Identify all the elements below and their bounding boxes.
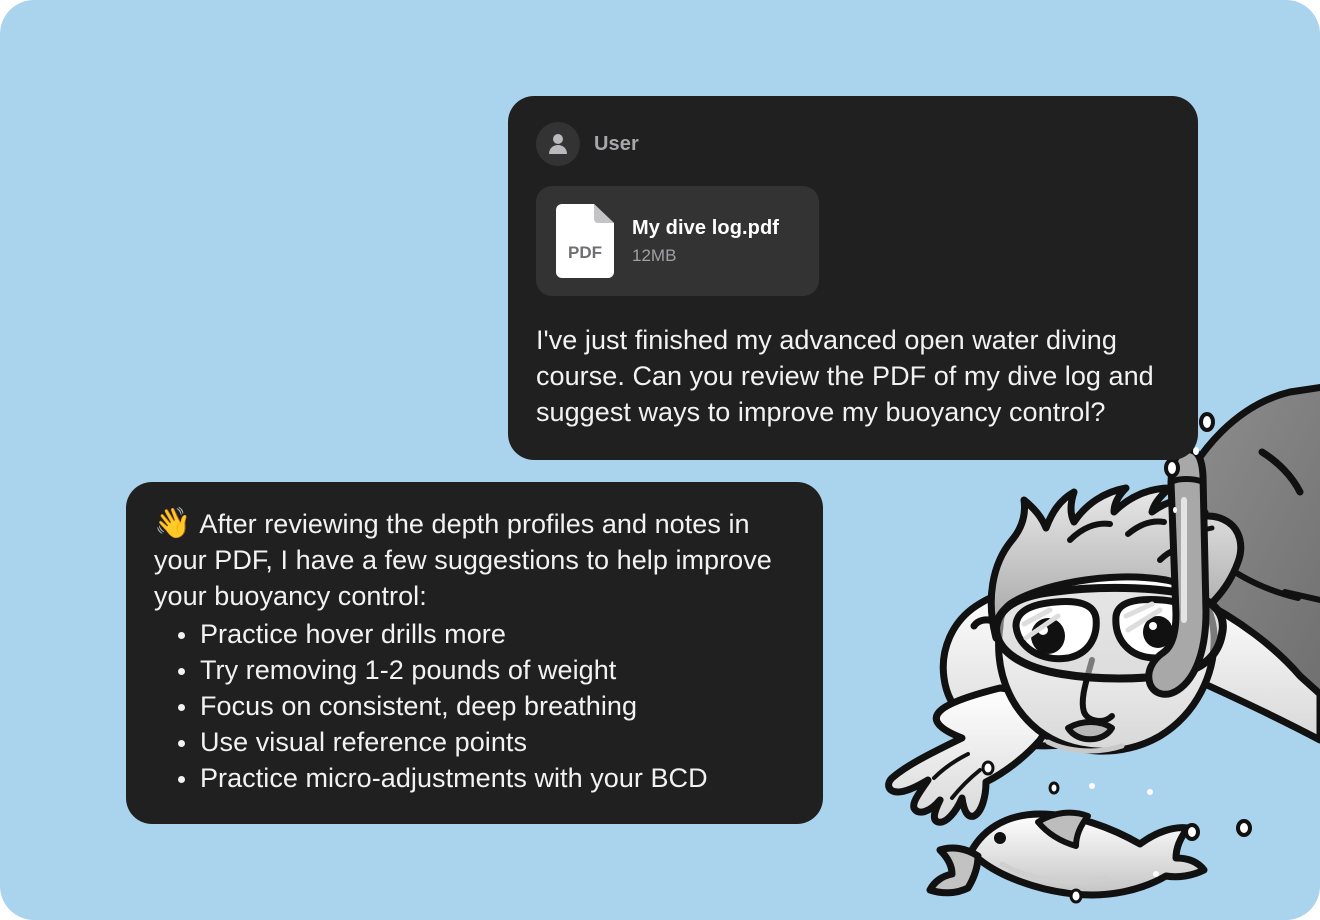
person-icon [536,122,580,166]
assistant-intro-paragraph: 👋After reviewing the depth profiles and … [154,506,793,614]
user-message-text: I've just finished my advanced open wate… [536,322,1170,430]
fish [930,813,1204,895]
waving-hand-emoji: 👋 [154,507,191,540]
snorkel [1149,450,1206,695]
list-item: Try removing 1-2 pounds of weight [200,652,793,688]
list-item: Practice micro-adjustments with your BCD [200,760,793,796]
attachment-meta: My dive log.pdf 12MB [632,217,779,266]
attachment-filename: My dive log.pdf [632,217,779,240]
suggestion-list: Practice hover drills more Try removing … [154,616,793,796]
list-item: Use visual reference points [200,724,793,760]
diver-group [889,383,1320,902]
diver-right-arm [1120,589,1320,740]
user-name-label: User [594,133,639,156]
attachment-filesize: 12MB [632,246,779,266]
diver-left-arm [889,688,1046,822]
pdf-attachment-card[interactable]: PDF My dive log.pdf 12MB [536,186,819,296]
dive-mask [974,588,1223,679]
diver-hair [991,488,1241,650]
user-header: User [536,122,1170,166]
list-item: Practice hover drills more [200,616,793,652]
chat-illustration-canvas: User PDF My dive log.pdf 12MB I've just … [0,0,1320,920]
bubbles [983,383,1250,902]
assistant-intro-text: After reviewing the depth profiles and n… [154,509,772,611]
user-message-bubble: User PDF My dive log.pdf 12MB I've just … [508,96,1198,460]
diver-torso [943,586,1186,746]
svg-text:PDF: PDF [568,243,602,262]
diver-face [999,577,1215,751]
pdf-file-icon: PDF [556,204,614,278]
assistant-message-bubble: 👋After reviewing the depth profiles and … [126,482,823,824]
list-item: Focus on consistent, deep breathing [200,688,793,724]
